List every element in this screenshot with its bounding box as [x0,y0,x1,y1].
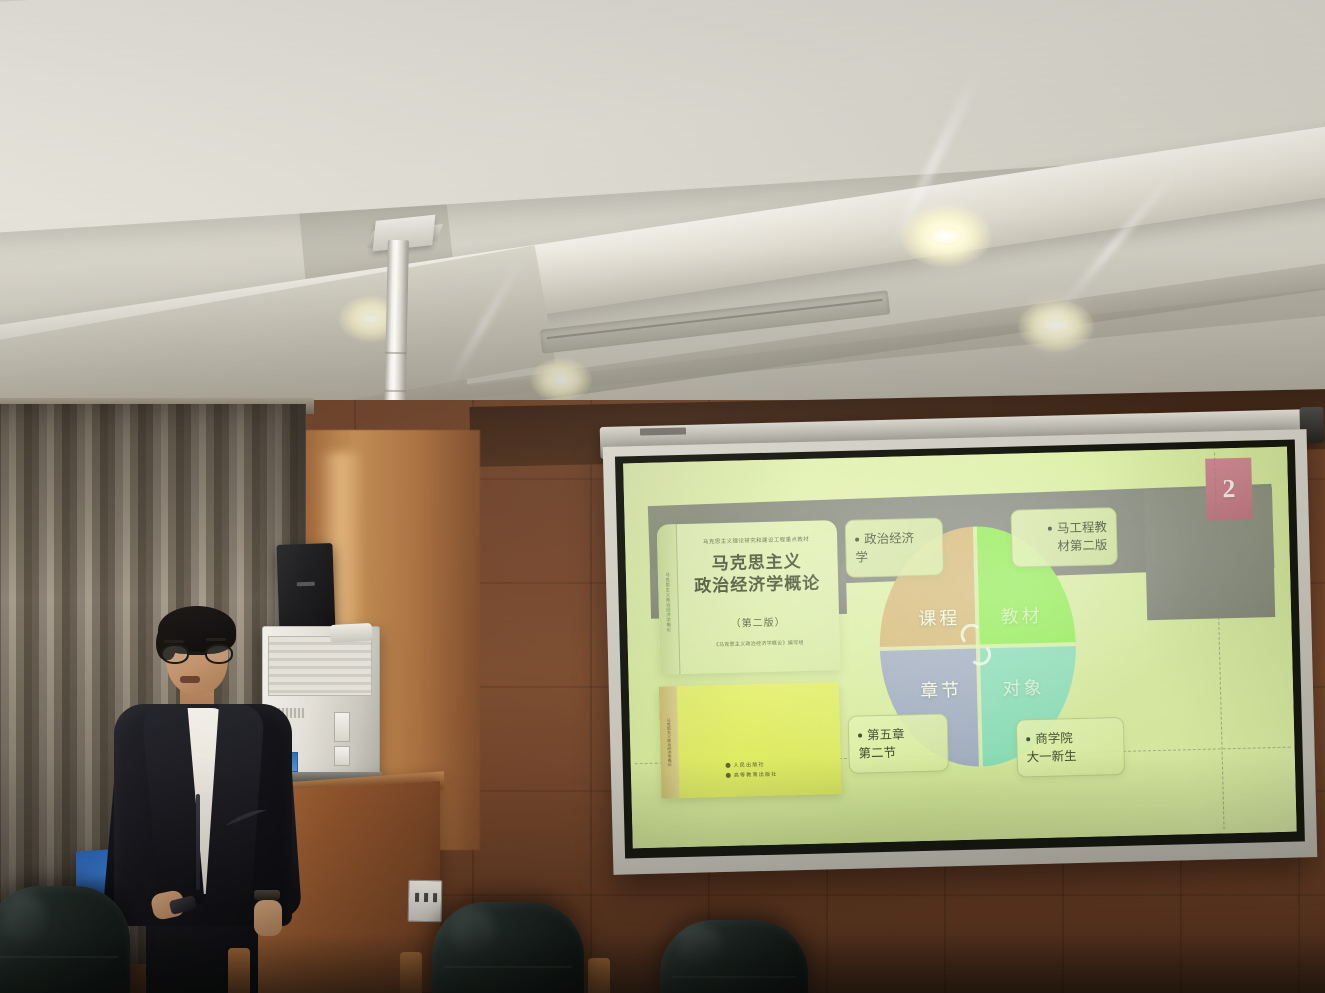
callout-chapter-line1: 第五章 [867,727,905,742]
callout-audience-line1: 商学院 [1035,731,1073,746]
slide-page-badge: 2 [1205,458,1253,521]
chair-armrest [228,948,250,993]
auditorium-chair[interactable] [0,886,130,993]
callout-audience: 商学院 大一新生 [1016,717,1125,778]
screen-border: 2 马克思主义政治经济学概论 马克思主义理论研究和建设工程重点教材 马克思主义 … [615,439,1305,858]
publisher-name-2: 高 等 教 育 出 版 社 [734,772,777,778]
powerpoint-slide: 2 马克思主义政治经济学概论 马克思主义理论研究和建设工程重点教材 马克思主义 … [623,447,1297,849]
quadrant-label-audience: 对象 [1002,674,1045,701]
auditorium-chair[interactable] [660,920,808,993]
glasses-icon [161,644,233,664]
quadrant-label-chapter: 章节 [920,676,963,703]
wristwatch-icon [254,890,280,900]
presenter-jacket-zipper [196,794,200,890]
projector-mount-pole [384,240,409,422]
screen-roller-label [640,427,686,435]
callout-course: 政治经济 学 [845,517,944,578]
textbook-compiler: 《马克思主义政治经济学概论》编写组 [684,638,834,649]
textbook-edition: （第二版） [683,612,833,631]
lecture-hall-photo: 2 马克思主义政治经济学概论 马克思主义理论研究和建设工程重点教材 马克思主义 … [0,0,1325,993]
screen-surface: 2 马克思主义政治经济学概论 马克思主义理论研究和建设工程重点教材 马克思主义 … [623,447,1297,849]
chair-armrest [400,952,422,993]
slide-page-number: 2 [1222,474,1236,504]
publisher-name-1: 人 民 出 版 社 [733,763,763,769]
swoosh-logo-icon [224,810,268,828]
textbook-secondary-spine-text: 马克思主义政治经济学概论 [659,686,680,798]
callout-textbook-line1: 马工程教 [1057,520,1107,535]
callout-textbook: 马工程教 材第二版 [1010,507,1117,568]
bullet-icon [1026,737,1030,741]
presenter [108,604,298,993]
auditorium-chair[interactable] [432,902,584,993]
presenter-mouth [180,676,200,683]
presenter-hand-right [254,900,282,936]
callout-audience-line2: 大一新生 [1027,749,1077,764]
callout-course-line1: 政治经济 [864,531,914,546]
textbook-header-line: 马克思主义理论研究和建设工程重点教材 [683,534,829,546]
textbook-publishers: 人 民 出 版 社 高 等 教 育 出 版 社 [725,761,776,781]
textbook-cover-secondary: 马克思主义政治经济学概论 人 民 出 版 社 高 等 教 育 出 版 社 [659,682,842,799]
bullet-icon [1048,526,1052,530]
quadrant-label-course: 课程 [918,604,961,631]
center-link-icon [960,623,995,670]
wall-outlet-panel[interactable] [408,880,443,923]
callout-chapter: 第五章 第二节 [848,713,949,774]
textbook-spine-text: 马克思主义政治经济学概论 [657,524,681,674]
textbook-cover-primary: 马克思主义政治经济学概论 马克思主义理论研究和建设工程重点教材 马克思主义 政治… [657,520,841,675]
projection-screen: 2 马克思主义政治经济学概论 马克思主义理论研究和建设工程重点教材 马克思主义 … [603,429,1318,875]
presenter-eyebrow [206,638,226,641]
callout-chapter-line2: 第二节 [858,746,896,761]
bullet-icon [858,733,862,737]
callout-textbook-line2: 材第二版 [1057,538,1107,553]
textbook-title: 马克思主义 政治经济学概论 [681,550,832,598]
textbook-title-line2: 政治经济学概论 [682,572,833,598]
presenter-eyebrow [164,640,184,643]
callout-course-line2: 学 [855,550,868,564]
tissue-box [330,623,373,643]
quadrant-label-textbook: 教材 [1000,602,1043,629]
chair-armrest [588,958,610,993]
bullet-icon [855,537,859,541]
